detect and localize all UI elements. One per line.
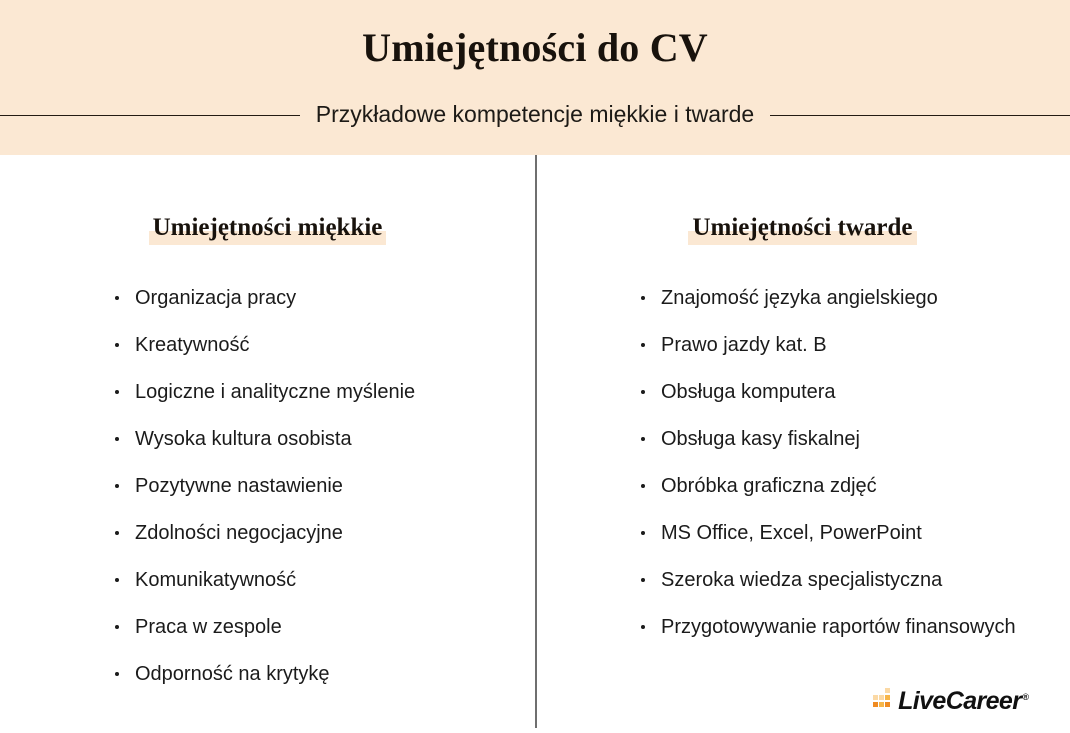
column-soft-skills: Umiejętności miękkie Organizacja pracy K… [0, 155, 535, 733]
list-item: Obsługa kasy fiskalnej [638, 424, 1048, 455]
list-item: Logiczne i analityczne myślenie [112, 377, 512, 408]
stepped-squares-icon [873, 688, 895, 713]
list-item: Obróbka graficzna zdjęć [638, 471, 1048, 502]
soft-skills-list: Organizacja pracy Kreatywność Logiczne i… [112, 283, 512, 706]
list-item: Wysoka kultura osobista [112, 424, 512, 455]
list-item: Zdolności negocjacyjne [112, 518, 512, 549]
list-item: Pozytywne nastawienie [112, 471, 512, 502]
column-heading-soft: Umiejętności miękkie [0, 213, 535, 243]
column-heading-hard-label: Umiejętności twarde [688, 213, 916, 243]
column-heading-soft-label: Umiejętności miękkie [149, 213, 387, 243]
list-item: Odporność na krytykę [112, 659, 512, 690]
column-hard-skills: Umiejętności twarde Znajomość języka ang… [535, 155, 1070, 733]
list-item: MS Office, Excel, PowerPoint [638, 518, 1048, 549]
list-item: Kreatywność [112, 330, 512, 361]
column-heading-hard: Umiejętności twarde [535, 213, 1070, 243]
list-item: Komunikatywność [112, 565, 512, 596]
rule-right [770, 115, 1070, 116]
content-area: Umiejętności miękkie Organizacja pracy K… [0, 155, 1070, 733]
list-item: Przygotowywanie raportów finansowych [638, 612, 1048, 643]
page-subtitle: Przykładowe kompetencje miękkie i twarde [300, 101, 770, 129]
list-item: Znajomość języka angielskiego [638, 283, 1048, 314]
list-item: Prawo jazdy kat. B [638, 330, 1048, 361]
list-item: Szeroka wiedza specjalistyczna [638, 565, 1048, 596]
logo-wordmark: LiveCareer [898, 689, 1021, 714]
livecareer-logo: LiveCareer ® [873, 687, 1028, 713]
logo-trademark: ® [1022, 692, 1029, 702]
list-item: Organizacja pracy [112, 283, 512, 314]
hard-skills-list: Znajomość języka angielskiego Prawo jazd… [638, 283, 1048, 659]
list-item: Obsługa komputera [638, 377, 1048, 408]
header-band: Umiejętności do CV Przykładowe kompetenc… [0, 0, 1070, 155]
list-item: Praca w zespole [112, 612, 512, 643]
rule-left [0, 115, 300, 116]
subtitle-row: Przykładowe kompetencje miękkie i twarde [0, 98, 1070, 132]
page-title: Umiejętności do CV [0, 24, 1070, 72]
